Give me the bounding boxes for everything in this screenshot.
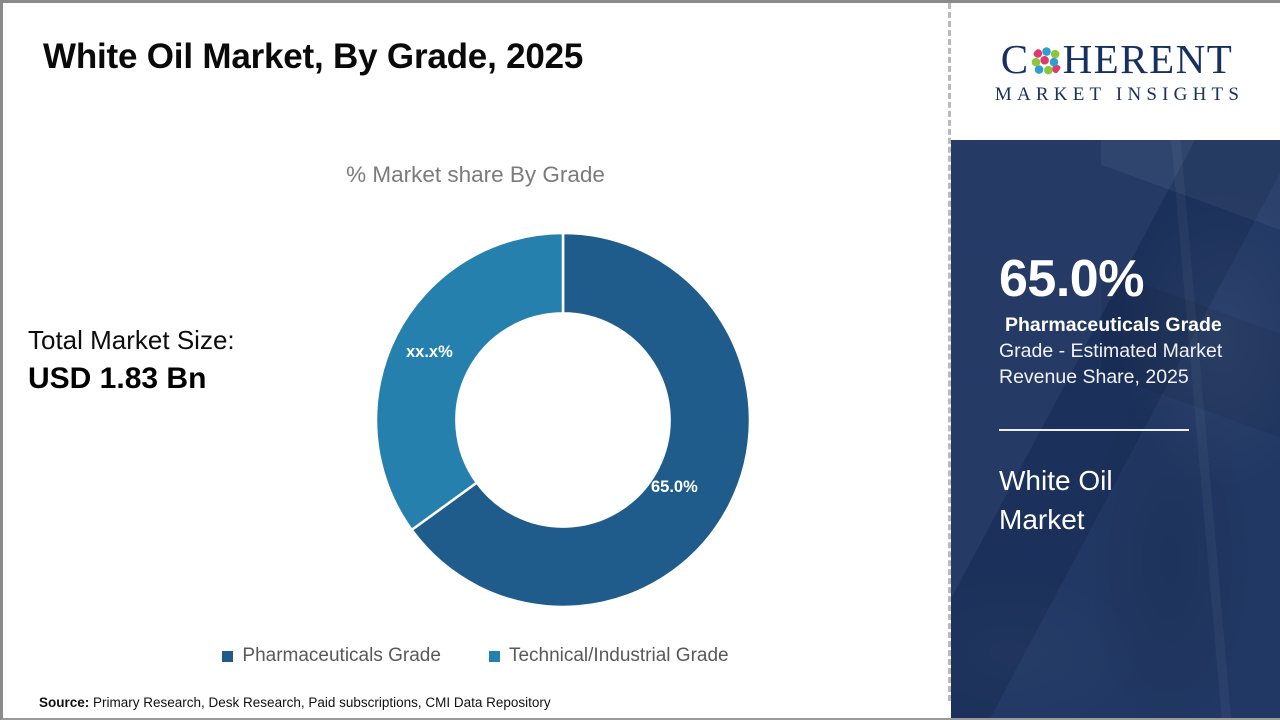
legend-swatch-icon	[222, 651, 233, 662]
donut-chart-svg	[348, 205, 778, 635]
logo-letter-c: C	[1001, 39, 1030, 80]
total-market-size-block: Total Market Size: USD 1.83 Bn	[28, 325, 328, 397]
legend-item-technical-industrial-grade[interactable]: Technical/Industrial Grade	[489, 645, 729, 667]
page-title: White Oil Market, By Grade, 2025	[43, 37, 583, 77]
source-footer: Source: Primary Research, Desk Research,…	[39, 695, 551, 710]
legend-swatch-icon	[489, 651, 500, 662]
chart-subtitle: % Market share By Grade	[3, 162, 948, 188]
logo-subtitle: MARKET INSIGHTS	[990, 84, 1244, 106]
panel-divider-rule	[999, 429, 1189, 431]
slice-label-technical-industrial-grade: xx.x%	[406, 343, 453, 362]
chart-legend: Pharmaceuticals Grade Technical/Industri…	[3, 645, 948, 667]
highlight-panel: 65.0% Pharmaceuticals Grade Grade - Esti…	[951, 140, 1280, 720]
total-market-size-label: Total Market Size:	[28, 325, 328, 357]
source-label: Source:	[39, 695, 89, 710]
brand-logo: C HERENT MARKET INSIGHTS	[951, 5, 1280, 140]
logo-word-rest: HERENT	[1063, 39, 1234, 80]
slice-label-pharmaceuticals-grade: 65.0%	[651, 478, 698, 497]
logo-wordmark: C HERENT	[990, 39, 1244, 80]
highlight-segment-name: Pharmaceuticals Grade	[999, 314, 1280, 336]
total-market-size-value: USD 1.83 Bn	[28, 361, 328, 398]
donut-slice[interactable]	[376, 233, 563, 530]
highlight-percent: 65.0%	[999, 253, 1280, 305]
legend-item-pharmaceuticals-grade[interactable]: Pharmaceuticals Grade	[222, 645, 441, 667]
market-name: White Oil Market	[999, 462, 1199, 539]
source-text: Primary Research, Desk Research, Paid su…	[89, 695, 550, 710]
legend-label: Technical/Industrial Grade	[509, 645, 729, 667]
donut-chart: xx.x% 65.0%	[348, 205, 778, 635]
globe-icon	[1031, 46, 1062, 77]
highlight-description: Grade - Estimated Market Revenue Share, …	[999, 339, 1249, 391]
donut-slices	[376, 233, 750, 607]
legend-label: Pharmaceuticals Grade	[242, 645, 441, 667]
infographic-page: White Oil Market, By Grade, 2025 C HEREN…	[0, 0, 1280, 720]
